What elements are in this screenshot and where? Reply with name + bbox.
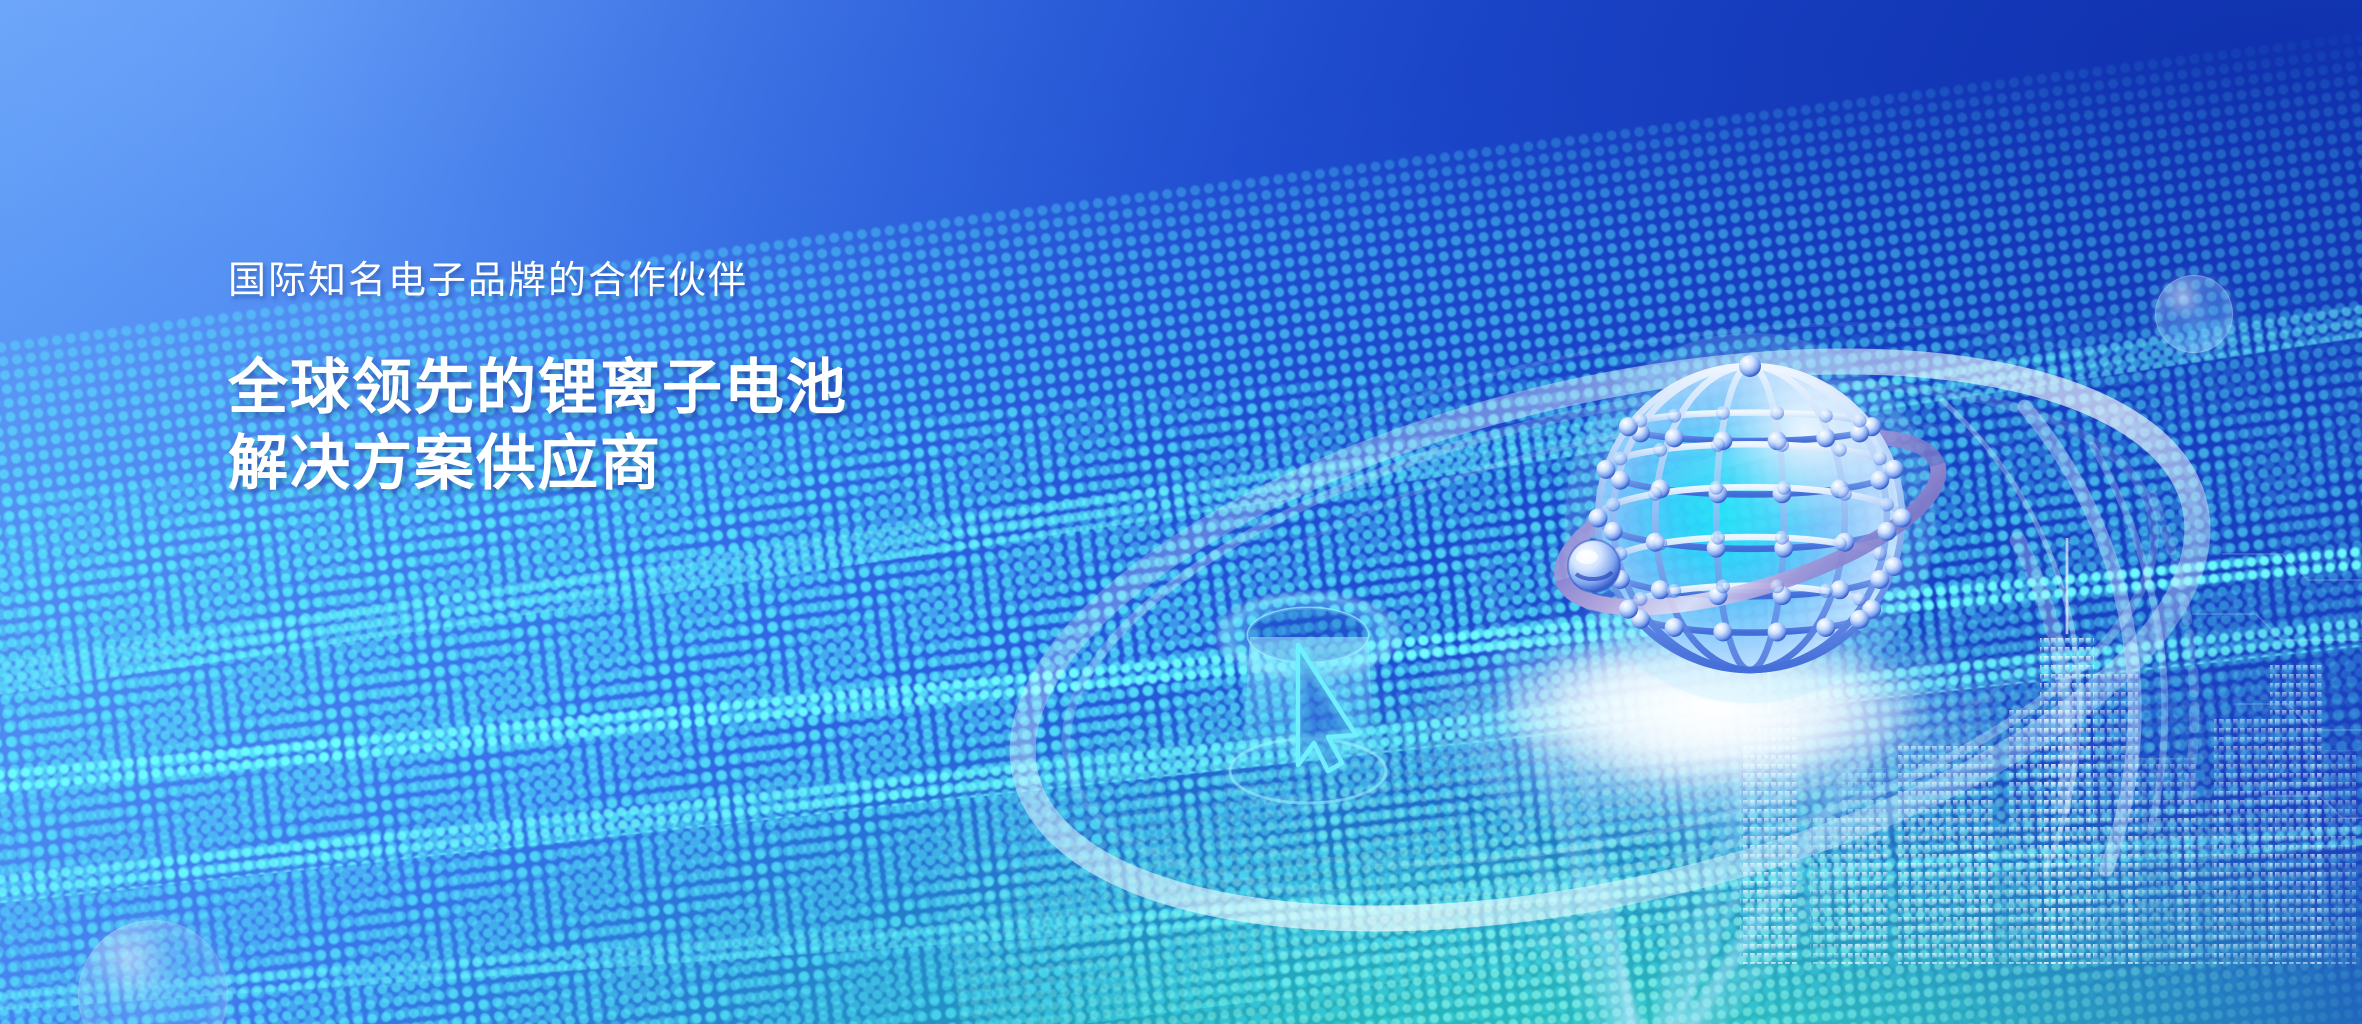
globe-node [1850, 424, 1869, 443]
circuit-traces [2192, 554, 2362, 818]
city-building [2214, 718, 2276, 964]
glass-bubble-top-right [2155, 275, 2233, 353]
globe-node [1870, 471, 1889, 490]
globe-node [1707, 539, 1726, 558]
headline-line-1: 全球领先的锂离子电池 [228, 350, 1128, 426]
globe-latitude-ring [1598, 487, 1902, 549]
globe-node [1604, 522, 1623, 541]
globe-node [1833, 443, 1847, 457]
globe-node [1777, 481, 1791, 495]
globe-node [1885, 557, 1904, 576]
globe-node [1709, 481, 1723, 495]
banner-headline: 全球领先的锂离子电池 解决方案供应商 [228, 350, 1128, 501]
globe-node [1611, 471, 1630, 490]
globe-node [1880, 498, 1894, 512]
globe-node [1773, 484, 1792, 503]
city-building [2088, 674, 2138, 964]
city-building [2270, 664, 2322, 964]
globe-node [1775, 531, 1789, 545]
globe-node [1830, 480, 1849, 499]
globe-node [1606, 498, 1620, 512]
globe-node [1873, 452, 1887, 466]
platform-core-highlight [1450, 610, 1970, 800]
globe-latitude-ring [1628, 413, 1871, 441]
globe-node [1768, 431, 1787, 450]
globe-node [1885, 460, 1904, 479]
globe-node [1651, 480, 1670, 499]
city-building [2126, 758, 2196, 964]
globe-node [1613, 452, 1627, 466]
city-building [2312, 750, 2356, 964]
background-teal-glow [0, 0, 2362, 1024]
globe-node [1648, 487, 1662, 501]
globe-node [1853, 414, 1867, 428]
globe-node [1713, 431, 1732, 450]
globe-node [1893, 509, 1912, 528]
background-teal-glow-secondary [0, 0, 2362, 1024]
globe-node [1774, 539, 1793, 558]
globe-node [1667, 409, 1681, 423]
background-deep-blue-vignette [0, 0, 2362, 1024]
globe-node [1775, 438, 1789, 452]
globe-node [1770, 406, 1784, 420]
wave-crest-line [0, 804, 2362, 1020]
halftone-dot-field [0, 0, 2362, 1024]
globe-node [1877, 522, 1896, 541]
globe-node [1613, 547, 1627, 561]
hero-banner: 国际知名电子品牌的合作伙伴 全球领先的锂离子电池 解决方案供应商 [0, 0, 2362, 1024]
city-building [1970, 824, 2010, 964]
globe-latitude-ring [1606, 444, 1894, 494]
banner-copy: 国际知名电子品牌的合作伙伴 全球领先的锂离子电池 解决方案供应商 [228, 258, 1128, 502]
headline-line-2: 解决方案供应商 [228, 426, 1128, 502]
globe-node [1711, 531, 1725, 545]
globe-node [1873, 547, 1887, 561]
globe-node [1816, 428, 1835, 447]
globe-node [1631, 424, 1650, 443]
globe-node [1653, 443, 1667, 457]
globe-node [1597, 460, 1616, 479]
globe-node [1646, 533, 1665, 552]
globe-node [1716, 406, 1730, 420]
globe-node [1833, 536, 1847, 550]
globe-node [1711, 438, 1725, 452]
globe-node [1665, 428, 1684, 447]
globe-node [1819, 409, 1833, 423]
building-spire [2066, 538, 2069, 634]
globe-node [1709, 484, 1728, 503]
city-building [2178, 796, 2224, 964]
glass-bubble-bottom-left [78, 920, 228, 1024]
globe-node [1619, 417, 1638, 436]
globe-pole-node [1739, 355, 1761, 377]
globe-node [1862, 417, 1881, 436]
globe-node [1589, 509, 1608, 528]
banner-eyebrow: 国际知名电子品牌的合作伙伴 [228, 258, 1128, 304]
globe-node [1835, 533, 1854, 552]
globe-node [1838, 487, 1852, 501]
background-light-wash [0, 0, 2362, 1024]
globe-node [1633, 414, 1647, 428]
globe-node [1653, 536, 1667, 550]
